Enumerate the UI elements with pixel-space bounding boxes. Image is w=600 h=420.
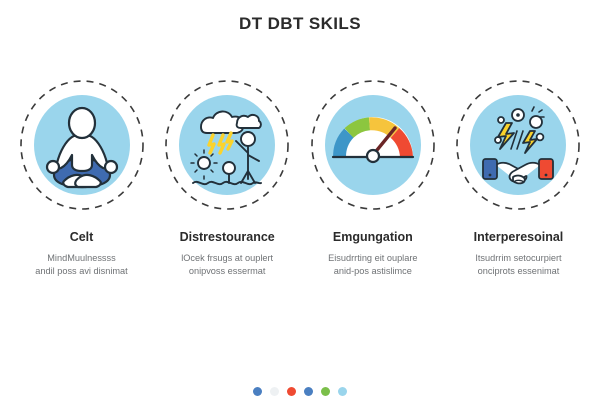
skill-body-line-2a: lOcek frsugs at ouplert [155, 252, 300, 265]
skill-heading-3: Emgungation [300, 230, 445, 245]
icon-ring-1 [18, 78, 146, 212]
skill-body-line-1b: andil poss avi disnimat [9, 265, 154, 278]
gauge-meter-icon [325, 95, 421, 195]
text-block-4: Interperesoinal Itsudrrim setocurpiert o… [446, 230, 591, 279]
skill-body-line-4b: onciprots essenimat [446, 265, 591, 278]
meditation-lotus-icon [34, 95, 130, 195]
skill-column-3[interactable]: Emgungation Eisudrrting eit ouplare anid… [305, 78, 440, 279]
skill-column-4[interactable]: Interperesoinal Itsudrrim setocurpiert o… [451, 78, 586, 279]
pagination-dot-5[interactable] [321, 387, 330, 396]
text-block-3: Emgungation Eisudrrting eit ouplare anid… [300, 230, 445, 279]
text-block-1: Celt MindMuulnessss andil poss avi disni… [9, 230, 154, 279]
skill-column-1[interactable]: Celt MindMuulnessss andil poss avi disni… [14, 78, 149, 279]
storm-cloud-person-icon [179, 95, 275, 195]
skill-heading-1: Celt [9, 230, 154, 245]
skill-body-line-4a: Itsudrrim setocurpiert [446, 252, 591, 265]
pagination-dot-4[interactable] [304, 387, 313, 396]
page-title: DT DBT SKILS [0, 14, 600, 34]
skill-heading-2: Distrestourance [155, 230, 300, 245]
pagination-dots[interactable] [0, 387, 600, 396]
skills-columns: Celt MindMuulnessss andil poss avi disni… [14, 78, 586, 279]
text-block-2: Distrestourance lOcek frsugs at ouplert … [155, 230, 300, 279]
icon-ring-4 [454, 78, 582, 212]
pagination-dot-2[interactable] [270, 387, 279, 396]
skill-body-line-3b: anid-pos astislimce [300, 265, 445, 278]
handshake-icon [470, 95, 566, 195]
infographic-slide: DT DBT SKILS [0, 0, 600, 420]
icon-ring-3 [309, 78, 437, 212]
skill-column-2[interactable]: Distrestourance lOcek frsugs at ouplert … [160, 78, 295, 279]
skill-body-line-3a: Eisudrrting eit ouplare [300, 252, 445, 265]
skill-body-line-1a: MindMuulnessss [9, 252, 154, 265]
skill-body-line-2b: onipvoss essermat [155, 265, 300, 278]
skill-heading-4: Interperesoinal [446, 230, 591, 245]
icon-ring-2 [163, 78, 291, 212]
pagination-dot-3[interactable] [287, 387, 296, 396]
pagination-dot-6[interactable] [338, 387, 347, 396]
pagination-dot-1[interactable] [253, 387, 262, 396]
